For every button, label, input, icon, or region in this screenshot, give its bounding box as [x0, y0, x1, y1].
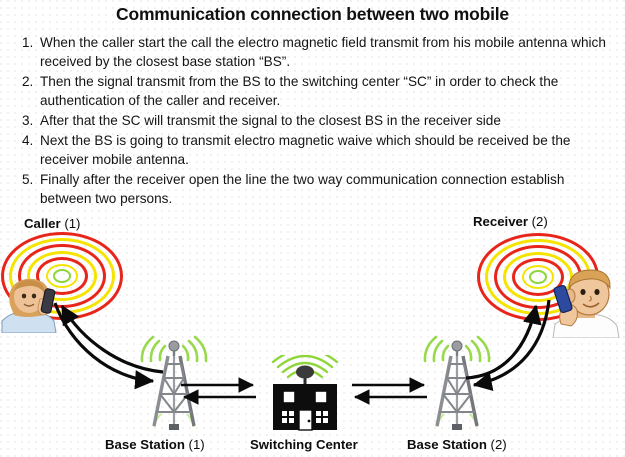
label-caller: Caller (1) [24, 216, 80, 231]
signal-ring [529, 270, 547, 284]
label-base-station-1: Base Station (1) [105, 437, 205, 452]
switching-center-building-icon [262, 355, 348, 433]
label-bs1-rest: (1) [185, 437, 205, 452]
list-item-text: Finally after the receiver open the line… [40, 170, 613, 209]
label-caller-bold: Caller [24, 216, 61, 231]
label-receiver-rest: (2) [528, 214, 548, 229]
label-receiver-bold: Receiver [473, 214, 528, 229]
label-caller-rest: (1) [61, 216, 81, 231]
base-station-1-tower-icon [137, 330, 211, 430]
list-item-number: 5. [18, 170, 40, 189]
page-title: Communication connection between two mob… [0, 4, 625, 25]
steps-list: 1. When the caller start the call the el… [18, 33, 613, 209]
list-item-text: After that the SC will transmit the sign… [40, 111, 613, 130]
list-item-number: 3. [18, 111, 40, 130]
slide-canvas: Communication connection between two mob… [0, 0, 625, 457]
label-bs1-bold: Base Station [105, 437, 185, 452]
list-item: 4. Next the BS is going to transmit elec… [18, 131, 613, 170]
list-item-number: 1. [18, 33, 40, 52]
label-receiver: Receiver (2) [473, 214, 548, 229]
list-item-text: Then the signal transmit from the BS to … [40, 72, 613, 111]
list-item: 2. Then the signal transmit from the BS … [18, 72, 613, 111]
list-item-text: When the caller start the call the elect… [40, 33, 613, 72]
list-item-number: 4. [18, 131, 40, 150]
label-bs2-bold: Base Station [407, 437, 487, 452]
list-item: 3. After that the SC will transmit the s… [18, 111, 613, 130]
label-switching-center: Switching Center [250, 437, 358, 452]
base-station-2-tower-icon [420, 330, 494, 430]
list-item-number: 2. [18, 72, 40, 91]
label-sc-bold: Switching Center [250, 437, 358, 452]
receiver-avatar [547, 268, 625, 338]
list-item: 1. When the caller start the call the el… [18, 33, 613, 72]
list-item: 5. Finally after the receiver open the l… [18, 170, 613, 209]
list-item-text: Next the BS is going to transmit electro… [40, 131, 613, 170]
caller-avatar [0, 275, 74, 333]
label-base-station-2: Base Station (2) [407, 437, 507, 452]
label-bs2-rest: (2) [487, 437, 507, 452]
